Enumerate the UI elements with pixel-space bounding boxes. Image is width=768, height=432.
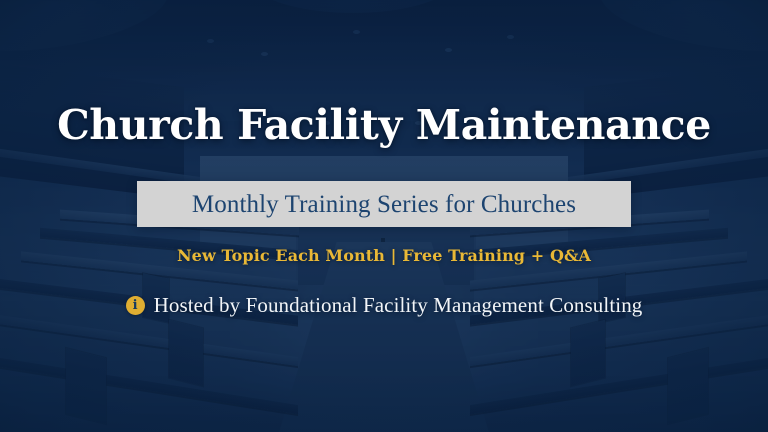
page-title: Church Facility Maintenance (0, 104, 768, 147)
banner-content: Church Facility Maintenance Monthly Trai… (0, 0, 768, 432)
info-circle-icon: i (126, 296, 145, 315)
tagline-text: New Topic Each Month | Free Training + Q… (0, 246, 768, 265)
subtitle-banner: Monthly Training Series for Churches (137, 181, 631, 227)
promo-banner: Church Facility Maintenance Monthly Trai… (0, 0, 768, 432)
host-credit-line: i Hosted by Foundational Facility Manage… (0, 295, 768, 316)
host-credit-text: Hosted by Foundational Facility Manageme… (154, 295, 643, 316)
subtitle-text: Monthly Training Series for Churches (192, 192, 576, 217)
